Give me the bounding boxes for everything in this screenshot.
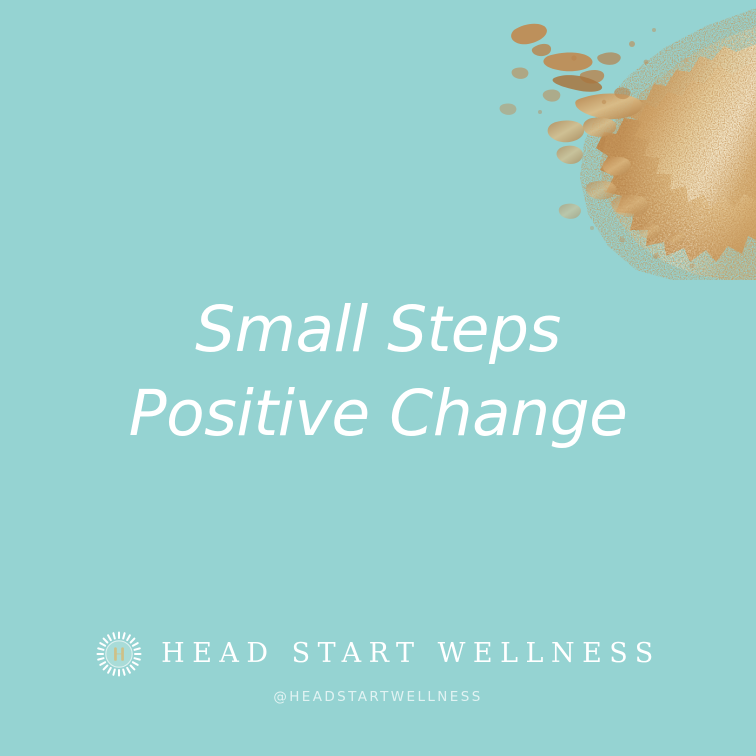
- splatter-grain: [600, 26, 756, 280]
- social-graphic-canvas: Small Steps Positive Change: [0, 0, 756, 756]
- headline-line-1: Small Steps: [0, 288, 756, 372]
- sunburst-badge-icon: [95, 630, 143, 678]
- splatter-grain-outer: [580, 8, 756, 280]
- social-handle: @HEADSTARTWELLNESS: [273, 691, 482, 705]
- headline-line-2: Positive Change: [0, 372, 756, 456]
- splatter-core: [596, 44, 756, 262]
- splatter-flecks: [500, 24, 695, 269]
- logo-wordmark: HEAD START WELLNESS: [159, 640, 661, 667]
- logo-row: HEAD START WELLNESS: [95, 630, 661, 678]
- logo-lockup: HEAD START WELLNESS @HEADSTARTWELLNESS: [0, 630, 756, 705]
- splatter-fragments-mid: [548, 94, 686, 244]
- headline: Small Steps Positive Change: [0, 288, 756, 456]
- gold-foil-splatter: [496, 0, 756, 280]
